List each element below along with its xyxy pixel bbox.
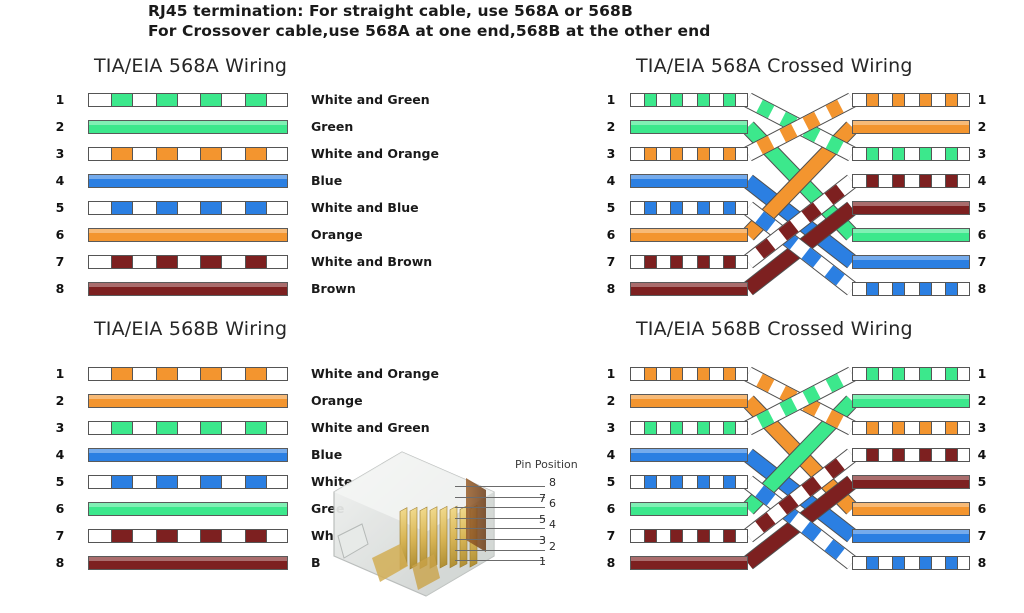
a-crossed-right-wire-bar-6 <box>852 228 970 242</box>
title-568a-wiring: TIA/EIA 568A Wiring <box>94 55 287 77</box>
a-crossed-right-wire-bar-8 <box>852 282 970 296</box>
pin-leader-number-4: 4 <box>549 519 556 530</box>
wire-segment <box>657 422 670 434</box>
wire-segment <box>932 557 945 569</box>
wire-segment <box>657 148 670 160</box>
a-crossed-right-pin-number-6: 6 <box>975 228 989 242</box>
b-crossed-left-pin-number-3: 3 <box>604 421 618 435</box>
wire-segment <box>866 422 879 434</box>
wire-segment <box>958 368 970 380</box>
wire-segment <box>710 202 723 214</box>
wire-segment <box>932 422 945 434</box>
wire-segment <box>670 202 683 214</box>
b-crossed-right-pin-number-2: 2 <box>975 394 989 408</box>
wire-segment <box>723 476 736 488</box>
wire-segment <box>683 476 696 488</box>
wire-segment <box>919 94 932 106</box>
wire-segment <box>945 94 958 106</box>
a-crossed-right-pin-number-2: 2 <box>975 120 989 134</box>
b-crossed-right-pin-number-4: 4 <box>975 448 989 462</box>
b-crossed-left-wire-bar-4 <box>630 448 748 462</box>
wire-segment <box>879 449 892 461</box>
wire-segment <box>683 368 696 380</box>
wire-segment <box>866 368 879 380</box>
wire-segment <box>958 148 970 160</box>
wire-segment <box>958 94 970 106</box>
wire-gloss <box>853 395 969 399</box>
wire-segment <box>723 368 736 380</box>
wire-segment <box>853 148 866 160</box>
pin-leader-line-1 <box>455 560 545 561</box>
wire-segment <box>892 422 905 434</box>
wire-segment <box>670 476 683 488</box>
wire-segment <box>945 148 958 160</box>
wire-segment <box>697 202 710 214</box>
wire-segment <box>644 256 657 268</box>
wire-segment <box>736 94 748 106</box>
b-crossed-right-wire-bar-5 <box>852 475 970 489</box>
wire-gloss <box>853 476 969 480</box>
rj45-connector-image <box>316 440 516 600</box>
wire-segment <box>892 175 905 187</box>
pin-position-callout-title: Pin Position <box>515 458 578 471</box>
a-crossed-right-pin-number-5: 5 <box>975 201 989 215</box>
b-crossed-right-pin-number-3: 3 <box>975 421 989 435</box>
b-crossed-left-pin-number-8: 8 <box>604 556 618 570</box>
pin-leader-line-6 <box>455 507 545 508</box>
pin-leader-number-8: 8 <box>549 477 556 488</box>
a-crossed-left-wire-bar-3 <box>630 147 748 161</box>
wire-segment <box>710 476 723 488</box>
wire-segment <box>892 283 905 295</box>
wire-segment <box>958 422 970 434</box>
wire-segment <box>958 283 970 295</box>
b-crossed-left-wire-bar-3 <box>630 421 748 435</box>
wire-segment <box>892 148 905 160</box>
b-crossed-left-pin-number-5: 5 <box>604 475 618 489</box>
wire-segment <box>905 557 918 569</box>
wire-segment <box>683 148 696 160</box>
wire-segment <box>657 476 670 488</box>
wire-segment <box>670 148 683 160</box>
wire-segment <box>919 449 932 461</box>
wire-segment <box>932 148 945 160</box>
wire-segment <box>723 202 736 214</box>
wire-segment <box>853 449 866 461</box>
wire-gloss <box>853 503 969 507</box>
wire-gloss <box>631 557 747 561</box>
b-crossed-right-pin-number-6: 6 <box>975 502 989 516</box>
wire-segment <box>710 94 723 106</box>
a-crossed-left-wire-bar-1 <box>630 93 748 107</box>
a-crossed-left-wire-bar-5 <box>630 201 748 215</box>
wire-segment <box>879 94 892 106</box>
wire-gloss <box>631 283 747 287</box>
wire-segment <box>644 94 657 106</box>
wire-segment <box>670 530 683 542</box>
b-crossed-right-wire-bar-3 <box>852 421 970 435</box>
wire-segment <box>866 557 879 569</box>
header-line-2: For Crossover cable,use 568A at one end,… <box>148 22 710 40</box>
pin-leader-number-2: 2 <box>549 541 556 552</box>
b-crossed-left-pin-number-1: 1 <box>604 367 618 381</box>
wire-segment <box>631 256 644 268</box>
wire-segment <box>670 256 683 268</box>
pin-leader-number-3: 3 <box>539 535 546 546</box>
wire-segment <box>644 422 657 434</box>
wire-segment <box>657 368 670 380</box>
wire-segment <box>723 94 736 106</box>
wire-segment <box>697 94 710 106</box>
wire-segment <box>736 256 748 268</box>
b-crossed-right-wire-bar-4 <box>852 448 970 462</box>
b-crossed-left-wire-bar-6 <box>630 502 748 516</box>
wire-segment <box>697 368 710 380</box>
wire-segment <box>683 422 696 434</box>
b-crossed-left-pin-number-7: 7 <box>604 529 618 543</box>
b-crossed-right-pin-number-1: 1 <box>975 367 989 381</box>
a-crossed-right-wire-bar-2 <box>852 120 970 134</box>
a-crossed-right-pin-number-4: 4 <box>975 174 989 188</box>
wire-segment <box>736 422 748 434</box>
b-crossed-left-wire-bar-5 <box>630 475 748 489</box>
wire-segment <box>919 557 932 569</box>
wire-segment <box>697 422 710 434</box>
wire-segment <box>958 449 970 461</box>
wire-segment <box>644 368 657 380</box>
b-crossed-left-wire-bar-8 <box>630 556 748 570</box>
a-crossed-left-pin-number-6: 6 <box>604 228 618 242</box>
wire-segment <box>644 148 657 160</box>
wire-segment <box>892 557 905 569</box>
wire-segment <box>697 148 710 160</box>
wire-segment <box>932 368 945 380</box>
wire-gloss <box>631 449 747 453</box>
wire-segment <box>670 368 683 380</box>
b-crossed-right-wire-bar-2 <box>852 394 970 408</box>
wire-gloss <box>853 229 969 233</box>
wire-segment <box>644 202 657 214</box>
b-crossed-left-wire-bar-1 <box>630 367 748 381</box>
wire-segment <box>892 94 905 106</box>
wire-segment <box>723 256 736 268</box>
wire-segment <box>736 368 748 380</box>
wire-segment <box>905 368 918 380</box>
a-crossed-right-wire-bar-3 <box>852 147 970 161</box>
wire-segment <box>866 148 879 160</box>
a-crossed-left-pin-number-4: 4 <box>604 174 618 188</box>
wire-segment <box>736 476 748 488</box>
wire-segment <box>866 449 879 461</box>
wire-segment <box>631 476 644 488</box>
b-crossed-left-wire-bar-2 <box>630 394 748 408</box>
wire-gloss <box>631 121 747 125</box>
pin-leader-line-7 <box>455 497 545 498</box>
a-crossed-right-wire-bar-7 <box>852 255 970 269</box>
wire-gloss <box>853 202 969 206</box>
wire-segment <box>905 148 918 160</box>
pin-leader-line-4 <box>455 528 545 529</box>
wire-segment <box>723 148 736 160</box>
wire-segment <box>697 530 710 542</box>
b-crossed-right-wire-bar-7 <box>852 529 970 543</box>
wire-gloss <box>631 229 747 233</box>
wire-segment <box>710 148 723 160</box>
wire-segment <box>853 94 866 106</box>
wire-segment <box>631 202 644 214</box>
wire-gloss <box>853 530 969 534</box>
pin-leader-number-5: 5 <box>539 514 546 525</box>
wire-segment <box>736 530 748 542</box>
b-crossed-left-wire-bar-7 <box>630 529 748 543</box>
wire-segment <box>631 422 644 434</box>
b-crossed-right-wire-bar-6 <box>852 502 970 516</box>
wire-segment <box>631 368 644 380</box>
pin-leader-line-8 <box>455 486 545 487</box>
wire-segment <box>866 175 879 187</box>
wire-segment <box>631 94 644 106</box>
wire-segment <box>710 530 723 542</box>
a-crossed-left-pin-number-1: 1 <box>604 93 618 107</box>
pin-leader-number-7: 7 <box>539 493 546 504</box>
wire-segment <box>670 422 683 434</box>
wire-segment <box>919 175 932 187</box>
wire-segment <box>631 148 644 160</box>
a-crossed-right-wire-bar-4 <box>852 174 970 188</box>
wire-segment <box>631 530 644 542</box>
diagram-canvas: RJ45 termination: For straight cable, us… <box>0 0 1024 600</box>
wire-segment <box>644 530 657 542</box>
a-crossed-right-pin-number-3: 3 <box>975 147 989 161</box>
wire-segment <box>644 476 657 488</box>
wire-segment <box>879 283 892 295</box>
wire-segment <box>683 202 696 214</box>
title-568a-crossed: TIA/EIA 568A Crossed Wiring <box>636 55 913 77</box>
wire-segment <box>905 422 918 434</box>
wire-segment <box>657 530 670 542</box>
wire-segment <box>866 283 879 295</box>
wire-segment <box>945 283 958 295</box>
b-crossed-right-wire-bar-1 <box>852 367 970 381</box>
wire-segment <box>879 368 892 380</box>
wire-segment <box>657 202 670 214</box>
a-crossed-left-wire-bar-4 <box>630 174 748 188</box>
a-crossed-right-pin-number-1: 1 <box>975 93 989 107</box>
b-crossed-right-pin-number-7: 7 <box>975 529 989 543</box>
a-crossed-left-wire-bar-8 <box>630 282 748 296</box>
wire-segment <box>905 94 918 106</box>
pin-leader-number-6: 6 <box>549 498 556 509</box>
wire-segment <box>723 422 736 434</box>
wire-segment <box>879 175 892 187</box>
wire-segment <box>945 557 958 569</box>
wire-segment <box>853 368 866 380</box>
wire-segment <box>905 175 918 187</box>
wire-segment <box>879 422 892 434</box>
wire-segment <box>919 283 932 295</box>
wire-segment <box>932 175 945 187</box>
wire-segment <box>932 94 945 106</box>
wire-segment <box>892 449 905 461</box>
wire-segment <box>919 148 932 160</box>
a-crossed-left-pin-number-7: 7 <box>604 255 618 269</box>
wire-segment <box>710 256 723 268</box>
wire-gloss <box>631 175 747 179</box>
wire-segment <box>853 283 866 295</box>
a-crossed-right-wire-bar-5 <box>852 201 970 215</box>
wire-segment <box>932 449 945 461</box>
a-crossed-left-wire-bar-2 <box>630 120 748 134</box>
wire-segment <box>919 368 932 380</box>
pin-leader-line-3 <box>455 539 545 540</box>
wire-segment <box>723 530 736 542</box>
a-crossed-right-pin-number-8: 8 <box>975 282 989 296</box>
b-crossed-right-pin-number-5: 5 <box>975 475 989 489</box>
wire-gloss <box>631 503 747 507</box>
wire-segment <box>683 530 696 542</box>
header-line-1: RJ45 termination: For straight cable, us… <box>148 2 633 20</box>
wire-segment <box>866 94 879 106</box>
wire-segment <box>892 368 905 380</box>
a-crossed-right-wire-bar-1 <box>852 93 970 107</box>
wire-segment <box>657 94 670 106</box>
a-crossed-left-pin-number-8: 8 <box>604 282 618 296</box>
wire-segment <box>945 449 958 461</box>
wire-segment <box>919 422 932 434</box>
wire-gloss <box>853 256 969 260</box>
a-crossed-left-wire-bar-7 <box>630 255 748 269</box>
wire-segment <box>710 422 723 434</box>
a-crossed-left-pin-number-3: 3 <box>604 147 618 161</box>
wire-segment <box>736 202 748 214</box>
b-crossed-right-pin-number-8: 8 <box>975 556 989 570</box>
b-crossed-left-pin-number-6: 6 <box>604 502 618 516</box>
wire-segment <box>853 175 866 187</box>
wire-segment <box>710 368 723 380</box>
b-crossed-left-pin-number-4: 4 <box>604 448 618 462</box>
b-crossed-left-pin-number-2: 2 <box>604 394 618 408</box>
wire-segment <box>736 148 748 160</box>
wire-segment <box>945 175 958 187</box>
wire-segment <box>683 256 696 268</box>
wire-gloss <box>631 395 747 399</box>
wire-segment <box>853 422 866 434</box>
wire-segment <box>853 557 866 569</box>
pin-leader-number-1: 1 <box>539 556 546 567</box>
b-crossed-right-wire-bar-8 <box>852 556 970 570</box>
pin-leader-line-2 <box>455 550 545 551</box>
wire-segment <box>697 256 710 268</box>
pin-leader-line-5 <box>455 518 545 519</box>
wire-segment <box>905 449 918 461</box>
a-crossed-left-pin-number-2: 2 <box>604 120 618 134</box>
wire-segment <box>945 368 958 380</box>
wire-segment <box>879 557 892 569</box>
wire-segment <box>657 256 670 268</box>
wire-segment <box>958 557 970 569</box>
wire-segment <box>683 94 696 106</box>
wire-segment <box>958 175 970 187</box>
wire-segment <box>697 476 710 488</box>
wire-gloss <box>853 121 969 125</box>
wire-segment <box>670 94 683 106</box>
a-crossed-right-pin-number-7: 7 <box>975 255 989 269</box>
a-crossed-left-pin-number-5: 5 <box>604 201 618 215</box>
wire-segment <box>905 283 918 295</box>
a-crossed-left-wire-bar-6 <box>630 228 748 242</box>
wire-segment <box>932 283 945 295</box>
wire-segment <box>945 422 958 434</box>
wire-segment <box>879 148 892 160</box>
